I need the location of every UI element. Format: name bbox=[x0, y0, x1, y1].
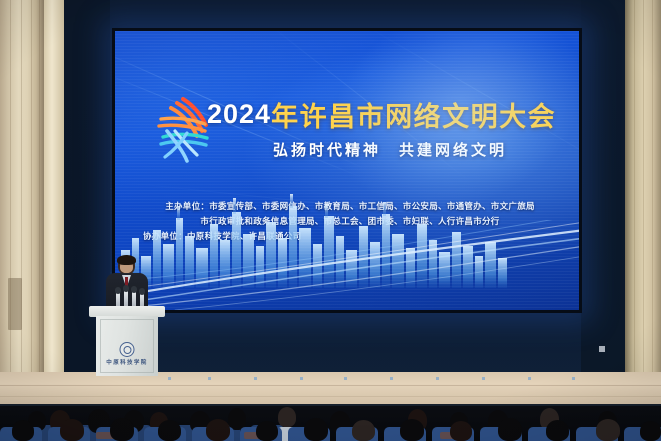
presenter-hair bbox=[117, 255, 136, 265]
wood-panel-right bbox=[625, 0, 661, 382]
title-main: 年许昌市网络文明大会 bbox=[271, 95, 556, 134]
wood-panel-left-outer bbox=[0, 0, 44, 382]
wood-panel-left-inner bbox=[44, 0, 64, 382]
podium-body: 中原科技学院 bbox=[96, 316, 158, 376]
wall-switch bbox=[599, 346, 605, 352]
podium-label: 中原科技学院 bbox=[96, 358, 158, 366]
screen-title: 2024 年许昌市网络文明大会 bbox=[207, 95, 567, 133]
screen-subtitle: 弘扬时代精神 共建网络文明 bbox=[225, 139, 555, 160]
university-crest bbox=[120, 342, 135, 357]
title-year: 2024 bbox=[207, 99, 271, 130]
wall-panel-right bbox=[581, 0, 625, 382]
podium: 中原科技学院 bbox=[93, 306, 161, 376]
seated-audience bbox=[0, 406, 661, 441]
led-screen-surface: 2024 年许昌市网络文明大会 弘扬时代精神 共建网络文明 主办单位：市委宣传部… bbox=[115, 31, 579, 310]
conference-hall-photo: 2024 年许昌市网络文明大会 弘扬时代精神 共建网络文明 主办单位：市委宣传部… bbox=[0, 0, 661, 441]
wall-vent bbox=[8, 278, 22, 330]
stage-floor bbox=[0, 372, 661, 406]
light-ribbon-graphic bbox=[115, 220, 579, 310]
led-screen: 2024 年许昌市网络文明大会 弘扬时代精神 共建网络文明 主办单位：市委宣传部… bbox=[112, 28, 582, 313]
